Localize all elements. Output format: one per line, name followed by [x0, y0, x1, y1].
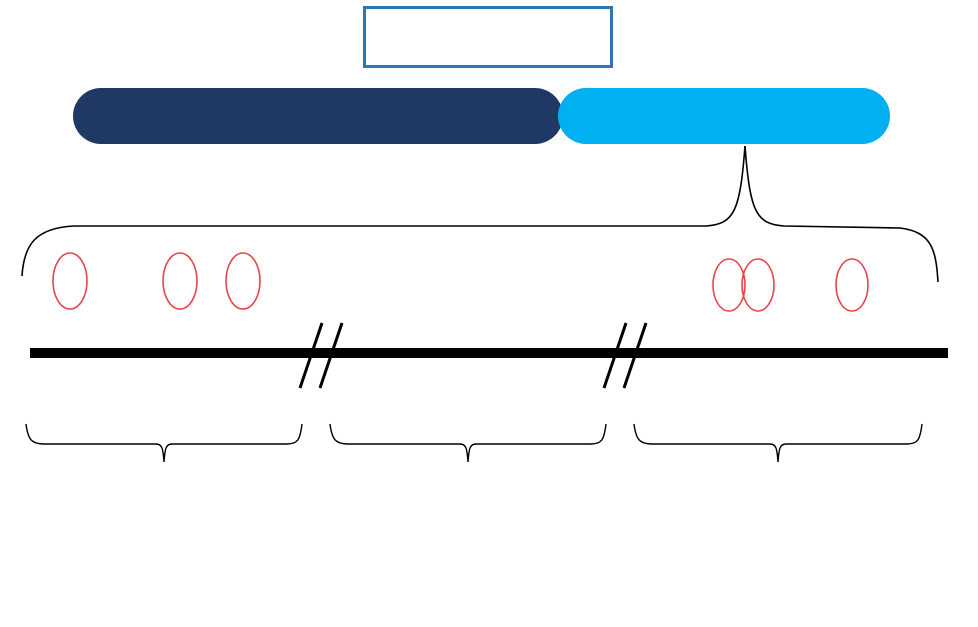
region-braces [26, 424, 922, 462]
chromosome-axis-line [30, 348, 948, 358]
diagram-overlay [0, 0, 978, 627]
diagram-canvas [0, 0, 978, 627]
expansion-brace [22, 146, 938, 282]
gene-highlight-circles [53, 253, 868, 311]
